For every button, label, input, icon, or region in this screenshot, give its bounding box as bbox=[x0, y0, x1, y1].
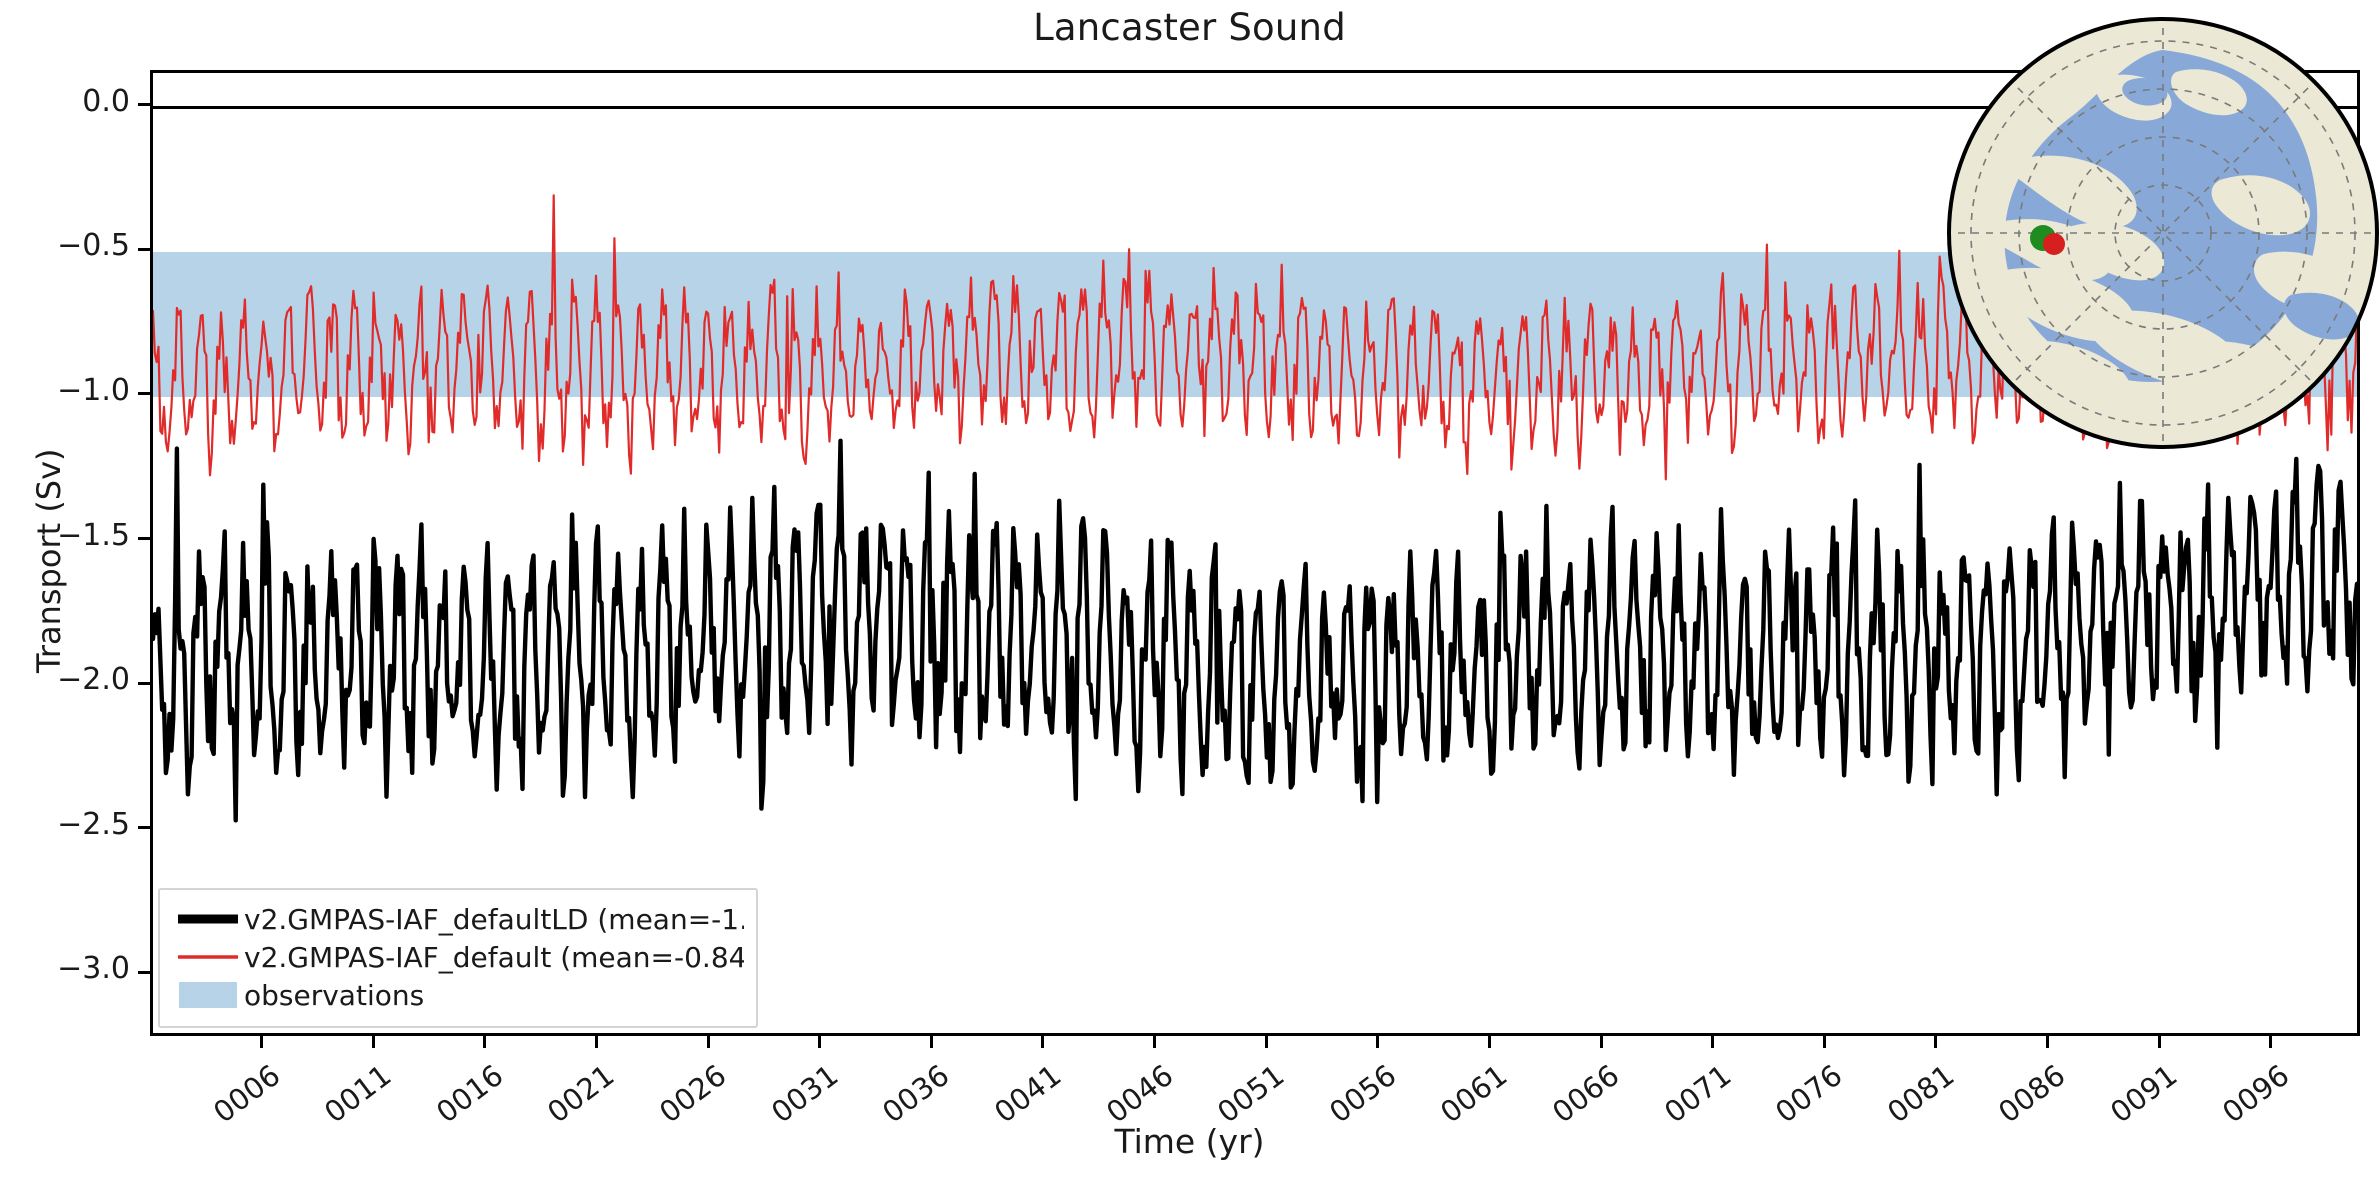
x-tick-mark bbox=[2158, 1036, 2161, 1048]
figure-canvas: Lancaster Sound 0.0−0.5−1.0−1.5−2.0−2.5−… bbox=[0, 0, 2379, 1180]
y-tick-mark bbox=[138, 971, 150, 974]
x-tick-mark bbox=[260, 1036, 263, 1048]
y-tick-label: 0.0 bbox=[82, 84, 130, 119]
y-tick-mark bbox=[138, 392, 150, 395]
legend[interactable]: v2.GMPAS-IAF_defaultLD (mean=-1.84 ± 0.4… bbox=[158, 888, 758, 1028]
y-tick-mark bbox=[138, 248, 150, 251]
legend-item-defaultld[interactable]: v2.GMPAS-IAF_defaultLD (mean=-1.84 ± 0.4… bbox=[172, 900, 744, 938]
legend-key-observations-patch bbox=[172, 982, 244, 1008]
legend-label-defaultld: v2.GMPAS-IAF_defaultLD (mean=-1.84 ± 0.4… bbox=[244, 903, 744, 936]
x-tick-mark bbox=[1600, 1036, 1603, 1048]
x-tick-mark bbox=[1488, 1036, 1491, 1048]
x-axis-label: Time (yr) bbox=[0, 1122, 2379, 1161]
x-tick-mark bbox=[595, 1036, 598, 1048]
y-tick-mark bbox=[138, 682, 150, 685]
legend-key-black-line bbox=[172, 912, 244, 926]
x-tick-mark bbox=[1823, 1036, 1826, 1048]
x-tick-mark bbox=[1376, 1036, 1379, 1048]
y-tick-mark bbox=[138, 103, 150, 106]
x-tick-mark bbox=[372, 1036, 375, 1048]
legend-key-red-line bbox=[172, 950, 244, 964]
legend-label-observations: observations bbox=[244, 979, 424, 1012]
y-tick-mark bbox=[138, 537, 150, 540]
legend-label-default: v2.GMPAS-IAF_default (mean=-0.84 ± 0.28) bbox=[244, 941, 744, 974]
y-tick-mark bbox=[138, 826, 150, 829]
legend-item-observations[interactable]: observations bbox=[172, 976, 744, 1014]
x-tick-mark bbox=[2046, 1036, 2049, 1048]
x-tick-mark bbox=[1041, 1036, 1044, 1048]
y-axis-label: Transport (Sv) bbox=[30, 448, 68, 673]
x-tick-mark bbox=[1711, 1036, 1714, 1048]
legend-item-default[interactable]: v2.GMPAS-IAF_default (mean=-0.84 ± 0.28) bbox=[172, 938, 744, 976]
y-tick-label: −1.5 bbox=[57, 518, 130, 553]
x-tick-mark bbox=[1265, 1036, 1268, 1048]
y-tick-label: −3.0 bbox=[57, 951, 130, 986]
x-tick-mark bbox=[707, 1036, 710, 1048]
y-tick-label: −2.5 bbox=[57, 807, 130, 842]
arctic-polar-inset-map bbox=[1944, 14, 2379, 452]
series-line-v2-gmpas-iaf-defaultld bbox=[153, 441, 2357, 821]
y-tick-label: −2.0 bbox=[57, 662, 130, 697]
x-tick-mark bbox=[483, 1036, 486, 1048]
y-tick-label: −0.5 bbox=[57, 228, 130, 263]
x-tick-mark bbox=[1934, 1036, 1937, 1048]
y-tick-label: −1.0 bbox=[57, 373, 130, 408]
transect-marker-red bbox=[2043, 233, 2065, 255]
x-tick-mark bbox=[1153, 1036, 1156, 1048]
x-tick-mark bbox=[2269, 1036, 2272, 1048]
x-tick-mark bbox=[930, 1036, 933, 1048]
x-tick-mark bbox=[818, 1036, 821, 1048]
